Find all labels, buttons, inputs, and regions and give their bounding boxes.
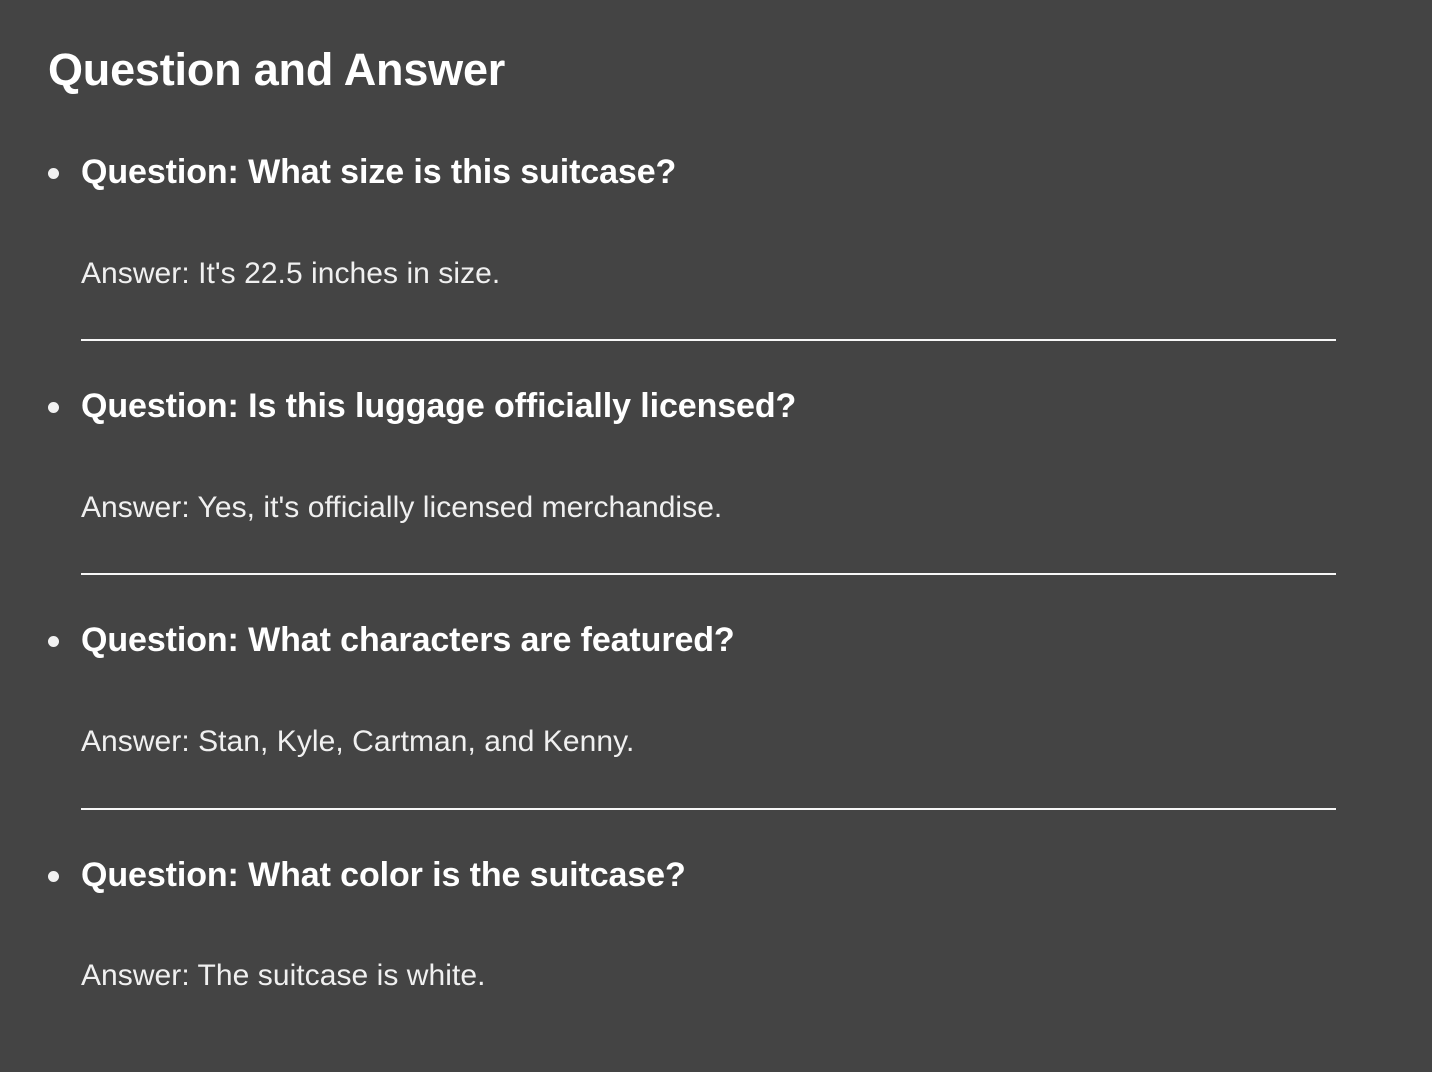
qa-divider [81,573,1336,575]
qa-answer: Answer: Yes, it's officially licensed me… [81,489,1384,527]
qa-divider [81,808,1336,810]
qa-question: Question: What characters are featured? [81,620,1384,661]
qa-question: Question: Is this luggage officially lic… [81,386,1384,427]
bullet-icon [48,871,59,882]
list-item: Question: What characters are featured? … [48,620,1384,809]
qa-divider [81,339,1336,341]
bullet-icon [48,402,59,413]
page-title: Question and Answer [48,44,1384,96]
qa-answer: Answer: The suitcase is white. [81,957,1384,995]
qa-question: Question: What size is this suitcase? [81,152,1384,193]
question-and-answer-panel: Question and Answer Question: What size … [0,0,1432,1072]
list-item: Question: What color is the suitcase? An… [48,855,1384,995]
qa-answer: Answer: Stan, Kyle, Cartman, and Kenny. [81,723,1384,761]
qa-list: Question: What size is this suitcase? An… [48,152,1384,995]
bullet-icon [48,636,59,647]
list-item: Question: Is this luggage officially lic… [48,386,1384,575]
bullet-icon [48,168,59,179]
list-item: Question: What size is this suitcase? An… [48,152,1384,341]
qa-question: Question: What color is the suitcase? [81,855,1384,896]
qa-answer: Answer: It's 22.5 inches in size. [81,255,1384,293]
